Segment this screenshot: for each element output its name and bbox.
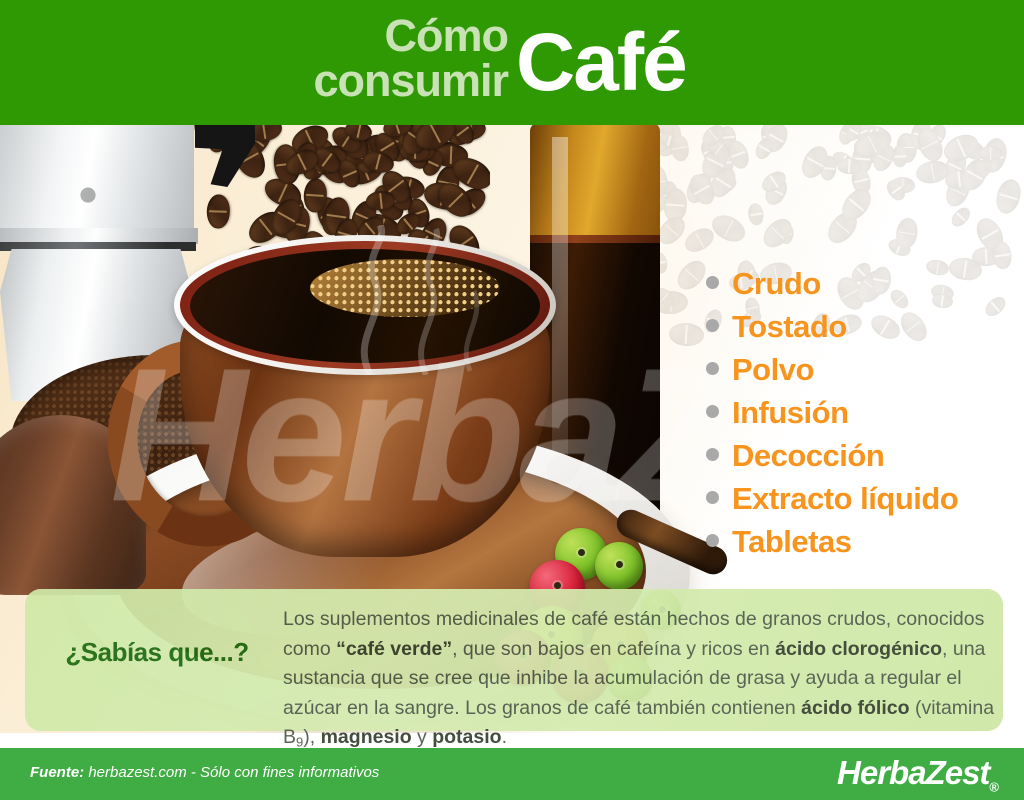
list-item: Polvo [706,348,1018,391]
list-item-label: Crudo [732,262,821,305]
coffee-bean-icon [747,202,764,226]
coffee-bean-icon [668,133,691,163]
consumption-methods-list: CrudoTostadoPolvoInfusiónDecocciónExtrac… [706,262,1018,563]
list-item: Infusión [706,391,1018,434]
callout-text-segment: potasio [432,726,501,748]
header-banner: Cómo consumir Café [0,0,1024,125]
coffee-bean-icon [948,204,974,230]
list-item-label: Tostado [732,305,847,348]
list-item-label: Infusión [732,391,849,434]
list-item: Extracto líquido [706,477,1018,520]
list-item: Decocción [706,434,1018,477]
bullet-dot-icon [706,405,719,418]
list-item: Crudo [706,262,1018,305]
infographic-page: Cómo consumir Café [0,0,1024,800]
callout-body-text: Los suplementos medicinales de café está… [283,605,1013,757]
coffee-bean-icon [707,210,749,247]
bullet-dot-icon [706,491,719,504]
moka-pot-upper [0,125,194,232]
callout-text-segment: , que son bajos en cafeína y ricos en [452,638,775,660]
footer-bar: Fuente: herbazest.com - Sólo con fines i… [0,748,1024,800]
bullet-dot-icon [706,362,719,375]
bullet-dot-icon [706,534,719,547]
callout-text-segment: magnesio [321,726,412,748]
coffee-cherry-icon [595,542,643,590]
footer-source-label: Fuente: [30,764,84,781]
callout-text-segment: y [412,726,433,748]
list-item-label: Polvo [732,348,814,391]
page-title-highlight: Café [516,22,686,104]
moka-pot-logo-icon [76,186,100,212]
brand-logo-text: HerbaZest [837,754,989,791]
did-you-know-callout: ¿Sabías que...? Los suplementos medicina… [25,589,1003,731]
list-item: Tostado [706,305,1018,348]
coffee-bean-icon [206,194,230,229]
coffee-bean-icon [672,256,711,295]
list-item: Tabletas [706,520,1018,563]
callout-text-segment: . [502,726,507,748]
coffee-bean-icon [992,176,1024,216]
header-title-group: Cómo consumir Café [0,0,1024,125]
coffee-bean-icon [894,217,919,251]
footer-source: Fuente: herbazest.com - Sólo con fines i… [30,764,379,781]
list-item-label: Tabletas [732,520,851,563]
bullet-dot-icon [706,319,719,332]
registered-trademark-icon: ® [989,780,998,795]
callout-text-segment: ácido fólico [801,697,909,719]
coffee-bean-icon [669,322,705,347]
callout-text-segment: ácido clorogénico [775,638,942,660]
steam-icon [330,225,500,375]
callout-title: ¿Sabías que...? [39,637,275,668]
callout-text-segment: “café verde” [336,638,452,660]
list-item-label: Decocción [732,434,884,477]
bullet-dot-icon [706,448,719,461]
callout-text-segment: ), [303,726,320,748]
coffee-cup [150,235,580,565]
bullet-dot-icon [706,276,719,289]
list-item-label: Extracto líquido [732,477,958,520]
page-title-line1: Cómo [385,13,509,58]
footer-source-text: herbazest.com - Sólo con fines informati… [88,764,379,781]
page-title-line2: consumir [313,58,508,103]
brand-logo[interactable]: HerbaZest® [837,754,998,795]
canister-knob [2,405,68,439]
